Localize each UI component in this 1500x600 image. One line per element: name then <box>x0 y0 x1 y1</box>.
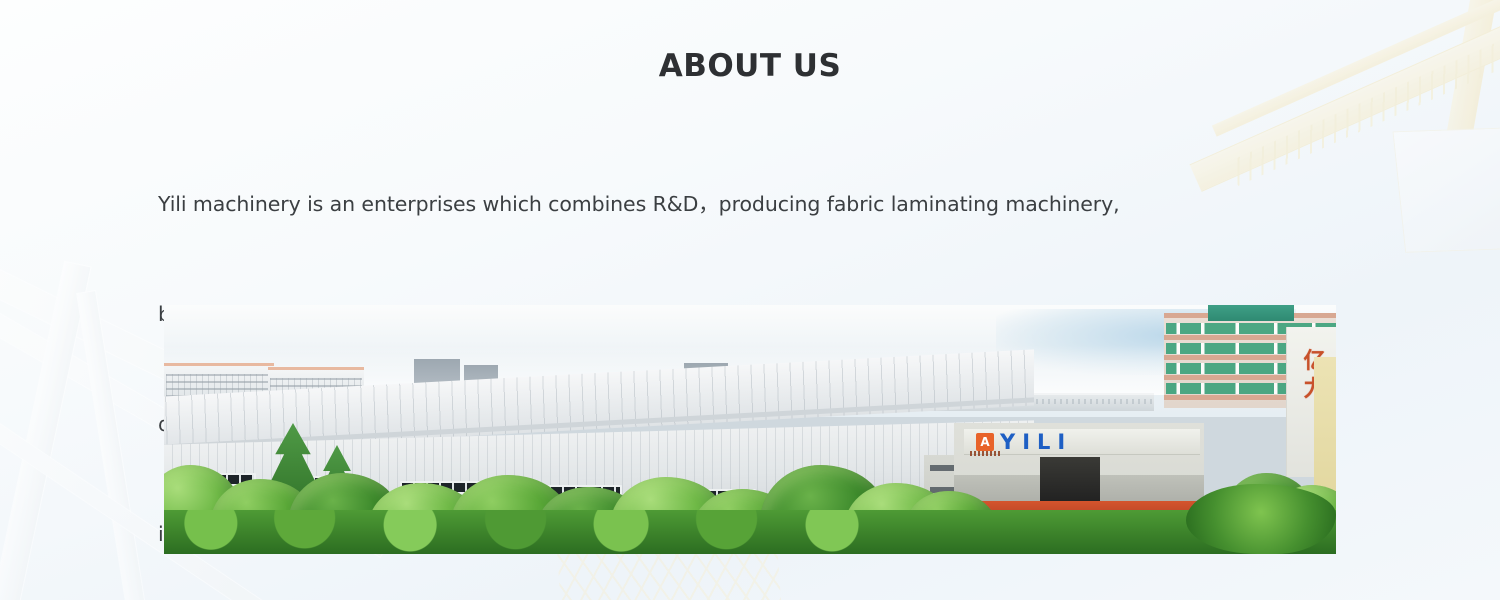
factory-photo: 亿 力 <box>164 305 1336 554</box>
about-paragraph-line-1: Yili machinery is an enterprises which c… <box>158 186 1343 223</box>
factory-photo-scene: 亿 力 <box>164 305 1336 554</box>
page-title: ABOUT US <box>0 48 1500 84</box>
yili-logo-subtext <box>970 451 1000 456</box>
about-us-page: ABOUT US Yili machinery is an enterprise… <box>0 0 1500 600</box>
yili-logo-icon: A <box>976 433 994 451</box>
yili-logo-letter: A <box>980 436 989 448</box>
content-area: ABOUT US Yili machinery is an enterprise… <box>0 0 1500 600</box>
shrubbery <box>1186 484 1336 554</box>
yili-brand-text: YILI <box>1000 430 1072 454</box>
hedge-row <box>164 510 1336 554</box>
